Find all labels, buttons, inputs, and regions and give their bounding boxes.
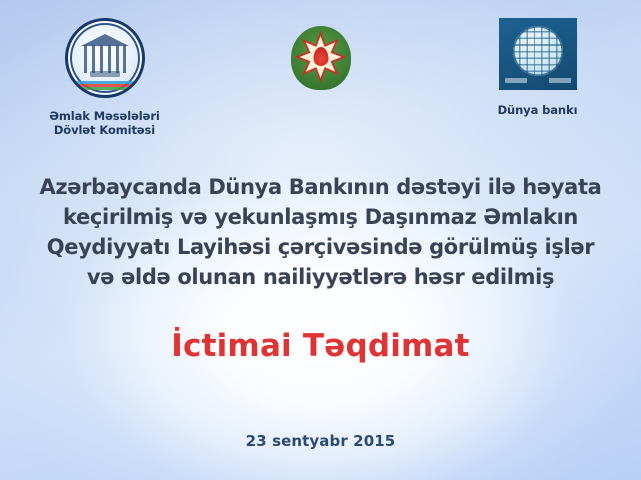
slide-headline: İctimai Təqdimat [0,328,641,364]
title-line-4: və əldə olunan nailiyyətlərə həsr edilmi… [0,262,641,292]
logo-world-bank: Dünya bankı [455,18,620,117]
title-line-3: Qeydiyyatı Layihəsi çərçivəsində görülmü… [0,232,641,262]
logo-caption-world-bank: Dünya bankı [455,103,620,117]
azerbaijan-state-emblem-icon [290,20,352,94]
globe-sphere-shape [513,26,563,76]
emblem-flag-band-shape [68,81,142,90]
logo-azerbaijan-state-emblem [238,20,403,94]
slide-content: Əmlak Məsələləri Dövlət Komitəsi [0,0,641,480]
world-bank-wordmark-shape [505,78,571,83]
state-committee-emblem-icon [65,18,145,98]
slide-event-date: 23 sentyabr 2015 [0,432,641,450]
logo-caption-state-committee: Əmlak Məsələləri Dövlət Komitəsi [22,109,187,137]
slide-title-block: Azərbaycanda Dünya Bankının dəstəyi ilə … [0,172,641,292]
emblem-flame-shape [313,47,328,66]
world-bank-globe-icon [499,18,577,90]
logo-state-committee: Əmlak Məsələləri Dövlət Komitəsi [22,18,187,137]
title-line-1: Azərbaycanda Dünya Bankının dəstəyi ilə … [0,172,641,202]
presentation-slide: Əmlak Məsələləri Dövlət Komitəsi [0,0,641,480]
emblem-columns-shape [84,45,126,73]
emblem-inner-text-shape [90,71,120,77]
logo-row: Əmlak Məsələləri Dövlət Komitəsi [0,18,641,163]
title-line-2: keçirilmiş və yekunlaşmış Daşınmaz Əmlak… [0,202,641,232]
globe-outline-ring [513,26,563,76]
